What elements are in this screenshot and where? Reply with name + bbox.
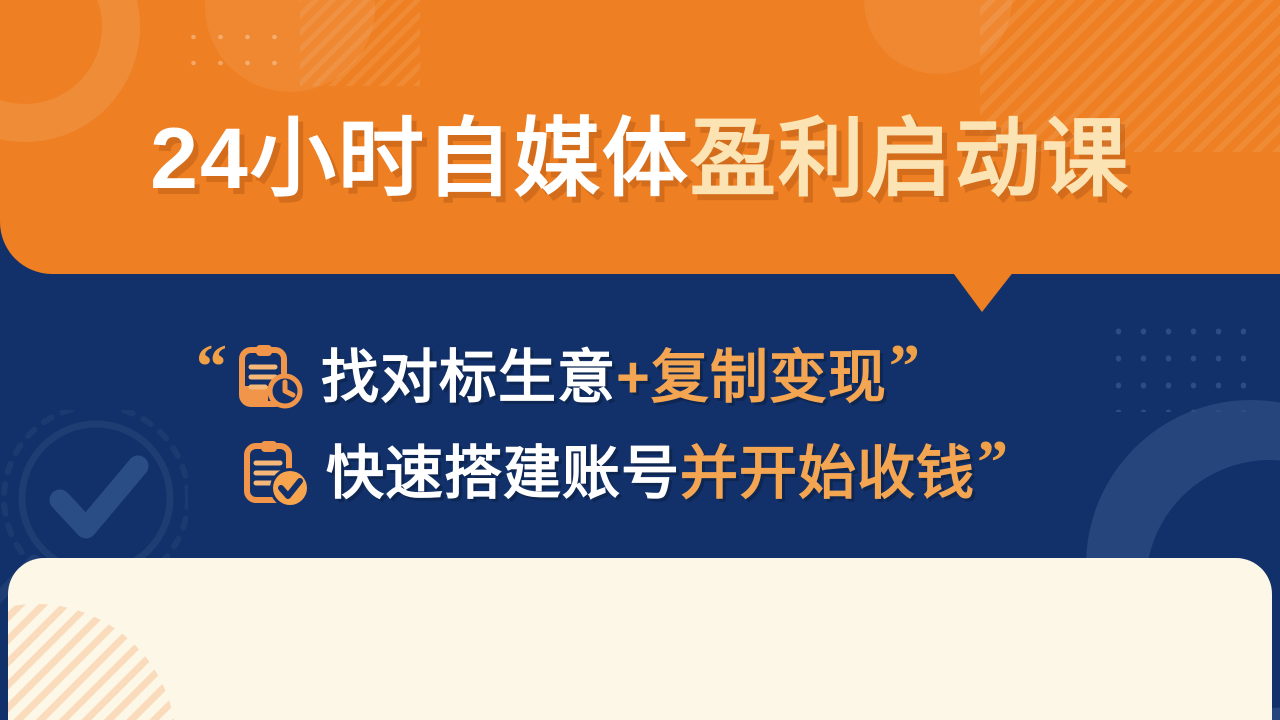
quote-open-mark-1: “ [196, 336, 227, 398]
banner-dot-grid [180, 24, 296, 74]
quote-close-mark-2: ” [977, 432, 1008, 494]
quote-line-2-white-text: 快速搭建账号 [326, 445, 680, 503]
promo-poster: 24小时自媒体盈利启动课 “ 找对标生意 +复制变现 [0, 0, 1280, 720]
quote-list: “ 找对标生意 +复制变现 ” [0, 330, 1280, 522]
card-striped-circle-decoration [8, 604, 176, 720]
quote-line-1-white-text: 找对标生意 [321, 349, 616, 407]
quote-close-mark-1: ” [889, 336, 920, 398]
quote-line-1: “ 找对标生意 +复制变现 ” [0, 330, 1280, 426]
quote-line-2: 快速搭建账号 并开始收钱 ” [0, 426, 1280, 522]
page-title-highlight: 盈利启动课 [690, 111, 1130, 207]
speech-bubble-tail-icon [948, 266, 1018, 312]
page-title-lead: 24小时自媒体 [150, 111, 690, 207]
clipboard-check-icon [240, 438, 312, 510]
banner-diagonal-stripes-center [300, 0, 420, 86]
bottom-content-card [8, 558, 1272, 720]
page-title: 24小时自媒体盈利启动课 [0, 116, 1280, 202]
quote-line-1-accent-text: +复制变现 [616, 349, 887, 407]
quote-line-2-accent-text: 并开始收钱 [680, 445, 975, 503]
clipboard-clock-icon [235, 342, 307, 414]
